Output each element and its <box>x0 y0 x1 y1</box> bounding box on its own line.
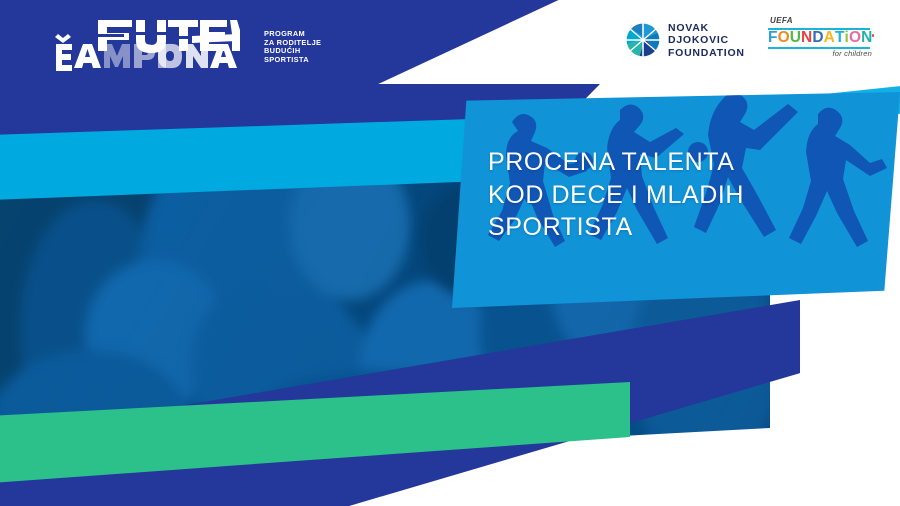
ndf-wordmark: NOVAK DJOKOVIC FOUNDATION <box>668 22 745 59</box>
hero-title-panel: PROCENA TALENTA KOD DECE I MLADIH SPORTI… <box>452 92 900 308</box>
uefa-foundation-word: FOUNDATiON <box>768 30 872 46</box>
uefa-trademark-dot <box>872 34 875 37</box>
uefa-foundation-logo: UEFA FOUNDATiON for children <box>766 16 874 60</box>
brand-tagline: PROGRAM ZA RODITELJE BUDUĆIH SPORTISTA <box>264 30 321 64</box>
ndf-globe-icon <box>624 21 662 59</box>
brand-logo: PROGRAM ZA RODITELJE BUDUĆIH SPORTISTA <box>40 14 300 86</box>
uefa-sub-label: for children <box>832 49 872 58</box>
uefa-label: UEFA <box>770 16 793 25</box>
novak-djokovic-foundation-logo: NOVAK DJOKOVIC FOUNDATION <box>624 20 748 62</box>
brochure-cover: PROCENA TALENTA KOD DECE I MLADIH SPORTI… <box>0 0 900 506</box>
page-title: PROCENA TALENTA KOD DECE I MLADIH SPORTI… <box>488 146 744 244</box>
putem-sampiona-wordmark-icon <box>40 14 240 78</box>
